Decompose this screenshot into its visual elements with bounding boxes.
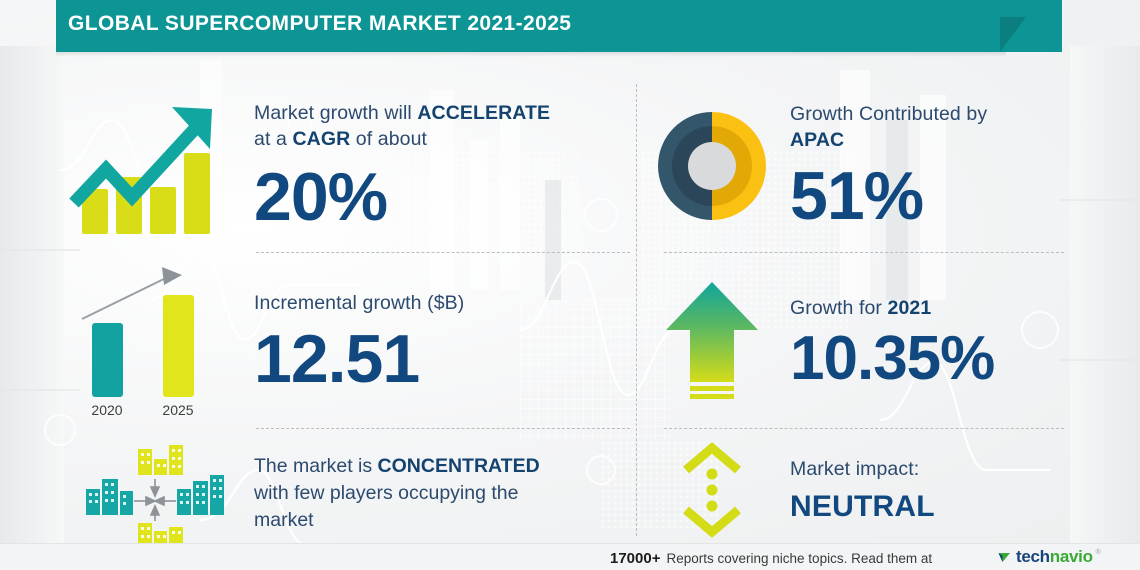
bar-label-2025: 2025 — [162, 402, 193, 418]
cagr-lead-text: Market growth will ACCELERATE at a CAGR … — [254, 100, 550, 152]
footer-note: 17000+ Reports covering niche topics. Re… — [610, 550, 932, 567]
cagr-lead2-suffix: of about — [350, 128, 427, 150]
technavio-mark-icon — [997, 549, 1013, 565]
concentration-line2: with few players occupying the — [254, 482, 518, 504]
donut-chart-icon — [650, 104, 774, 228]
technavio-logo-tech: tech — [1016, 547, 1050, 567]
concentration-prefix: The market is — [254, 455, 378, 477]
left-divider-2 — [256, 428, 630, 429]
stat-row-incremental-growth: 2020 2025 Incremental growth ($B) 12.51 — [60, 262, 630, 422]
technavio-logo-navio: navio — [1050, 547, 1093, 567]
bar-comparison-icon: 2020 2025 — [60, 265, 250, 420]
left-divider-1 — [256, 252, 630, 253]
incremental-growth-value: 12.51 — [254, 324, 464, 394]
stat-row-concentration: The market is CONCENTRATED with few play… — [60, 438, 630, 548]
apac-value: 51% — [790, 161, 987, 231]
footer-band — [0, 543, 1140, 570]
bar-label-2020: 2020 — [91, 402, 122, 418]
footer-report-text: Reports covering niche topics. Read them… — [666, 551, 932, 566]
cagr-lead2-prefix: at a — [254, 128, 292, 150]
growth-chart-icon — [60, 91, 250, 241]
right-divider-1 — [664, 252, 1064, 253]
technavio-logo-trademark: ® — [1096, 549, 1101, 556]
market-impact-value: NEUTRAL — [790, 490, 935, 524]
stat-row-growth-2021: Growth for 2021 10.35% — [650, 268, 1080, 418]
right-divider-2 — [664, 428, 1064, 429]
stat-row-apac: Growth Contributed by APAC 51% — [650, 86, 1080, 246]
cagr-lead-prefix: Market growth will — [254, 102, 417, 124]
incremental-growth-label: Incremental growth ($B) — [254, 290, 464, 316]
growth-2021-value: 10.35% — [790, 327, 994, 391]
stat-row-market-impact: Market impact: NEUTRAL — [650, 440, 1080, 540]
concentration-strong: CONCENTRATED — [378, 455, 540, 477]
growth-2021-label: Growth for 2021 — [790, 295, 994, 321]
growth-2021-strong: 2021 — [888, 297, 932, 319]
header-band-shadow — [56, 52, 1006, 57]
up-arrow-icon — [650, 278, 774, 408]
footer-report-count: 17000+ — [610, 550, 660, 567]
technavio-logo[interactable]: tech navio ® — [997, 547, 1101, 567]
infographic-root: GLOBAL SUPERCOMPUTER MARKET 2021-2025 Ma… — [0, 0, 1140, 570]
cagr-lead2-strong: CAGR — [292, 128, 350, 150]
apac-label: Growth Contributed by APAC — [790, 101, 987, 153]
cagr-value: 20% — [254, 162, 550, 232]
concentration-statement: The market is CONCENTRATED with few play… — [254, 453, 540, 534]
cagr-lead-strong: ACCELERATE — [417, 102, 550, 124]
neutral-impact-icon — [650, 442, 774, 538]
market-concentration-icon — [60, 439, 250, 547]
apac-label-line1: Growth Contributed by — [790, 103, 987, 125]
stat-row-cagr: Market growth will ACCELERATE at a CAGR … — [60, 86, 630, 246]
concentration-line3: market — [254, 509, 314, 531]
column-divider — [636, 84, 637, 536]
page-title: GLOBAL SUPERCOMPUTER MARKET 2021-2025 — [68, 12, 571, 36]
apac-label-strong: APAC — [790, 129, 844, 151]
growth-2021-prefix: Growth for — [790, 297, 888, 319]
market-impact-label: Market impact: — [790, 456, 935, 482]
